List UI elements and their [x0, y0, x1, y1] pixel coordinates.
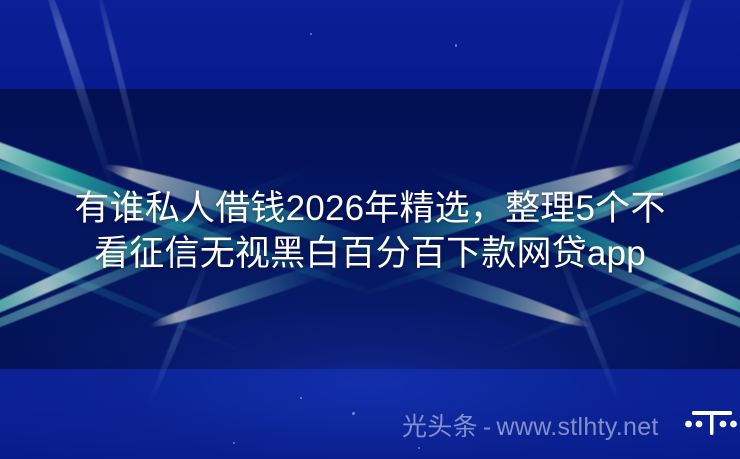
headline-line-1: 有谁私人借钱2026年精选，整理5个不 [22, 186, 718, 231]
watermark: 光头条 - www.stlhty.net [402, 412, 659, 442]
background-sparkle [455, 44, 457, 47]
headline-line-2: 看征信无视黑白百分百下款网贷app [22, 231, 718, 276]
background-sparkle [233, 442, 235, 444]
background-sparkle [352, 412, 355, 415]
background-band-top [0, 0, 740, 89]
article-cover-image: 有谁私人借钱2026年精选，整理5个不 看征信无视黑白百分百下款网贷app 光头… [0, 0, 740, 459]
background-streak-top-right-1 [618, 0, 704, 204]
background-sparkle [300, 397, 302, 399]
background-sparkle [310, 33, 312, 35]
watermark-site-name: 光头条 [402, 412, 478, 442]
watermark-url: www.stlhty.net [497, 412, 659, 442]
background-streak-top-left-2 [92, 0, 149, 182]
background-sparkle [418, 447, 420, 449]
wifi-signal-icon [685, 409, 740, 443]
background-streak-top-right-2 [564, 0, 633, 195]
watermark-separator: - [478, 412, 497, 442]
background-streak-top-left-1 [36, 0, 122, 204]
headline-title: 有谁私人借钱2026年精选，整理5个不 看征信无视黑白百分百下款网贷app [0, 186, 740, 276]
